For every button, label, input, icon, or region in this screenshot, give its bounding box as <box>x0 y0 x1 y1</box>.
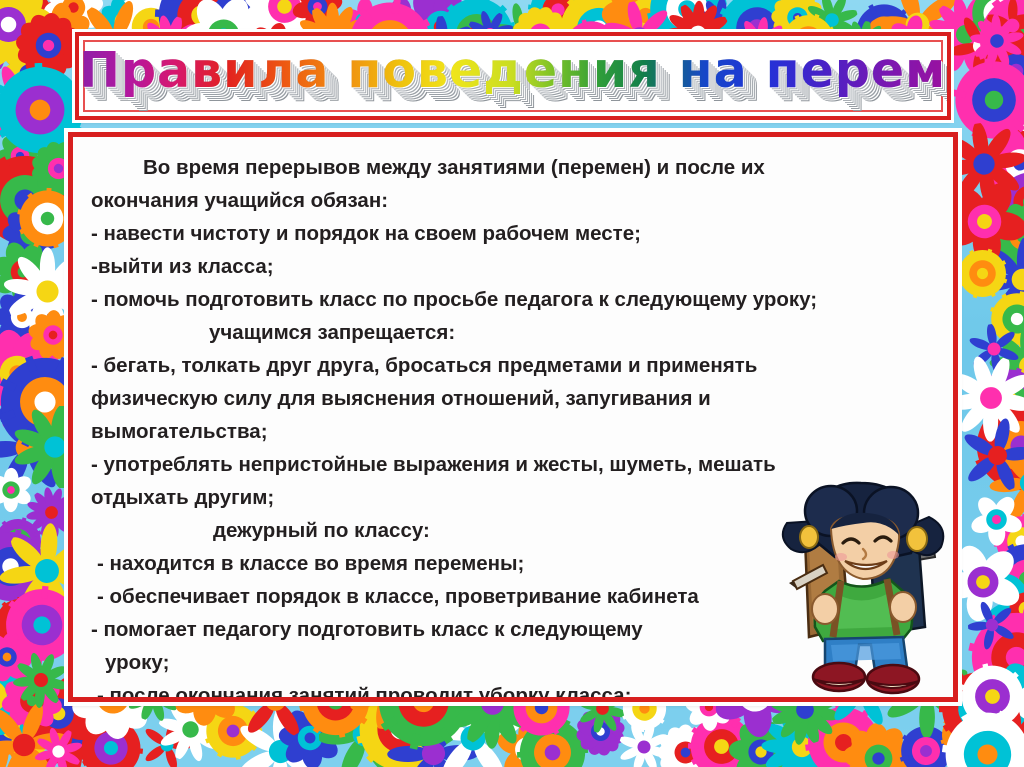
flower-decor <box>930 697 1024 767</box>
flower-decor <box>491 713 565 767</box>
flower-decor <box>0 197 68 270</box>
rules-panel: Во время перерывов между занятиями (пере… <box>68 132 958 702</box>
flower-decor <box>800 699 887 767</box>
flower-decor <box>966 599 1018 651</box>
flower-decor <box>950 591 1024 725</box>
flower-decor <box>976 527 1024 631</box>
flower-decor <box>984 157 1024 247</box>
flower-decor <box>26 720 90 767</box>
flower-decor <box>965 320 1022 377</box>
flower-decor <box>503 703 602 767</box>
flower-decor <box>73 710 149 767</box>
flower-decor <box>939 709 992 762</box>
flower-decor <box>0 508 52 576</box>
flower-decor <box>983 503 1024 579</box>
flower-decor <box>15 0 73 50</box>
flower-decor <box>0 0 37 55</box>
flower-decor <box>954 695 1024 767</box>
flower-decor <box>979 280 1024 357</box>
flower-decor <box>976 313 1024 419</box>
flower-decor <box>992 690 1024 767</box>
rule-line: физическую силу для выяснения отношений,… <box>91 382 935 415</box>
rule-line: учащимся запрещается: <box>91 316 935 349</box>
flower-decor <box>962 701 1024 767</box>
flower-decor <box>964 0 1024 100</box>
flower-decor <box>970 25 1024 117</box>
flower-decor <box>975 638 1024 748</box>
flower-decor <box>135 714 198 767</box>
flower-decor <box>978 0 1024 59</box>
flower-decor <box>962 546 1024 673</box>
schoolgirl-icon <box>779 477 947 695</box>
flower-decor <box>0 457 43 522</box>
flower-decor <box>373 692 495 767</box>
flower-decor <box>973 644 1024 762</box>
flower-decor <box>0 37 67 112</box>
flower-decor <box>0 696 73 767</box>
flower-decor <box>961 0 1024 49</box>
flower-decor <box>717 708 805 767</box>
flower-decor <box>0 285 54 348</box>
rule-line: Во время перерывов между занятиями (пере… <box>91 151 935 184</box>
flower-decor <box>204 702 263 761</box>
flower-decor <box>939 5 1021 87</box>
flower-decor <box>978 431 1024 535</box>
rule-line: - навести чистоту и порядок на своем раб… <box>91 217 935 250</box>
flower-decor <box>977 234 1024 324</box>
flower-decor <box>0 522 55 612</box>
flower-decor <box>0 656 77 745</box>
flower-decor <box>977 191 1024 281</box>
flower-decor <box>960 483 1024 555</box>
flower-decor <box>643 711 726 767</box>
rule-line: - бегать, толкать друг друга, бросаться … <box>91 349 935 382</box>
flower-decor <box>836 717 921 767</box>
rule-line: -выйти из класса; <box>91 250 935 283</box>
flower-decor <box>0 388 48 440</box>
rule-line: окончания учащийся обязан: <box>91 184 935 217</box>
flower-decor <box>970 359 1024 439</box>
flower-decor <box>0 619 44 694</box>
rule-line: вымогательства; <box>91 415 935 448</box>
title-plaque: Правила поведения на перемене Правила по… <box>75 32 951 120</box>
flower-decor <box>970 60 1024 172</box>
poster-background: Правила поведения на перемене Правила по… <box>0 0 1024 767</box>
flower-decor <box>0 225 70 320</box>
flower-decor <box>0 120 56 190</box>
rule-line: - помочь подготовить класс по просьбе пе… <box>91 283 935 316</box>
flower-decor <box>0 148 76 250</box>
flower-decor <box>952 656 1024 736</box>
flower-decor <box>569 700 631 762</box>
flower-decor <box>949 407 1024 503</box>
flower-decor <box>961 5 1024 77</box>
flower-decor <box>962 106 1024 222</box>
flower-decor <box>0 674 62 767</box>
flower-decor <box>748 693 855 767</box>
flower-decor <box>0 61 64 148</box>
flower-decor <box>0 593 49 652</box>
flower-decor <box>895 721 955 767</box>
flower-decor <box>612 715 676 767</box>
flower-decor <box>676 701 767 767</box>
flower-decor <box>0 643 43 747</box>
page-title: Правила поведения на перемене <box>79 42 947 99</box>
flower-decor <box>273 700 348 767</box>
flower-decor <box>0 0 77 93</box>
flower-decor <box>954 378 1024 513</box>
flower-decor <box>950 242 1014 306</box>
flower-decor <box>0 684 76 767</box>
flower-decor <box>0 2 35 71</box>
flower-decor <box>1013 0 1024 49</box>
